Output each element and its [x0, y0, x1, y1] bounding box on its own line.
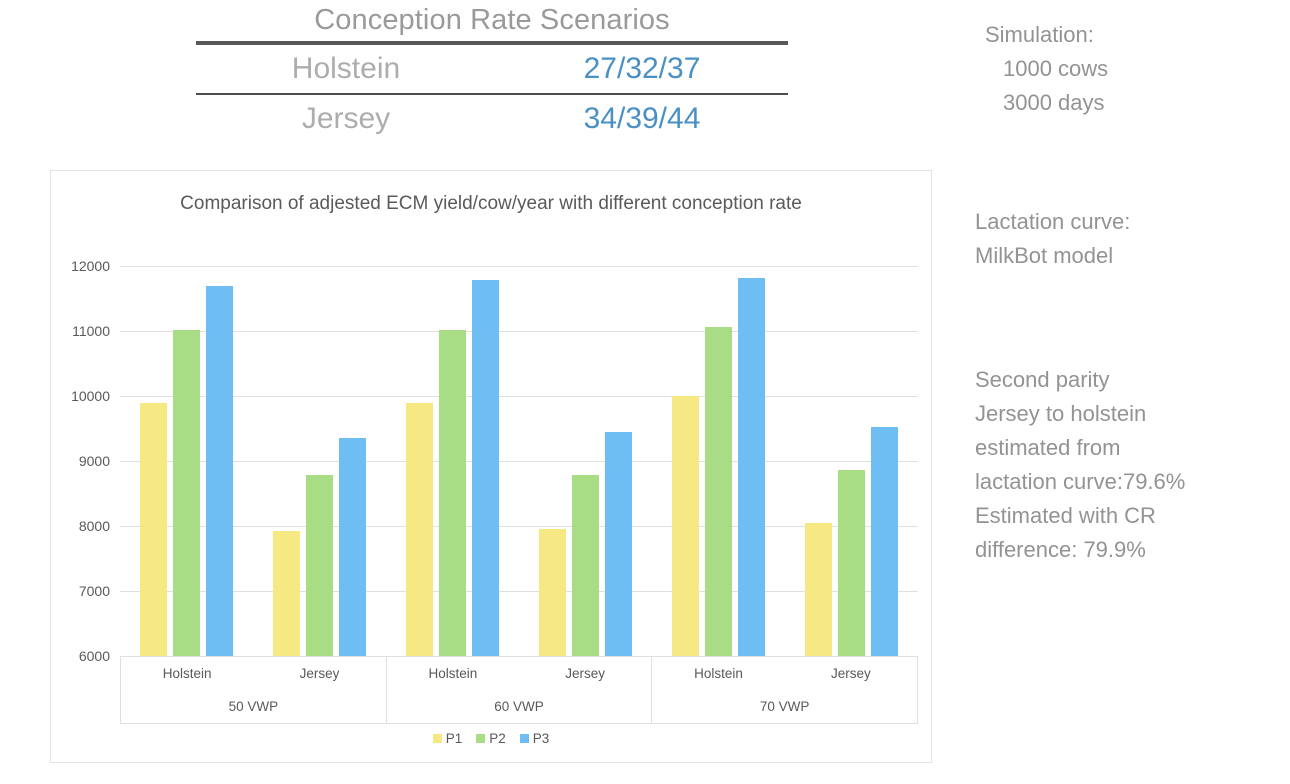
x-axis-breed-labels: HolsteinJerseyHolsteinJerseyHolsteinJers…	[120, 656, 918, 689]
x-axis-group-cell: HolsteinJersey	[120, 657, 386, 689]
simulation-note-cows: 1000 cows	[985, 52, 1108, 86]
bar-p2[interactable]	[705, 327, 732, 656]
legend-label: P2	[489, 731, 506, 746]
legend-label: P1	[446, 731, 463, 746]
chart-title: Comparison of adjested ECM yield/cow/yea…	[51, 191, 931, 217]
parity-note-line-3: estimated from	[975, 431, 1185, 465]
bar-p2[interactable]	[439, 330, 466, 656]
breed-bar-cluster	[253, 266, 386, 656]
x-axis-vwp-label: 60 VWP	[387, 689, 652, 723]
chart-bar-groups	[120, 266, 918, 656]
parity-note-line-4: lactation curve:79.6%	[975, 465, 1185, 499]
bar-p2[interactable]	[173, 330, 200, 656]
parity-note-line-5: Estimated with CR	[975, 499, 1185, 533]
x-axis-breed-label: Jersey	[785, 657, 917, 689]
table-cell-rates: 27/32/37	[496, 54, 788, 84]
table-cell-breed: Holstein	[196, 54, 496, 84]
bar-p2[interactable]	[306, 475, 333, 656]
x-axis-group-cell: HolsteinJersey	[651, 657, 918, 689]
parity-note-line-2: Jersey to holstein	[975, 397, 1185, 431]
x-axis-breed-label: Holstein	[121, 657, 253, 689]
ecm-yield-bar-chart: Comparison of adjested ECM yield/cow/yea…	[50, 170, 932, 763]
conception-rate-table: Conception Rate Scenarios Holstein 27/32…	[196, 2, 788, 143]
bar-p3[interactable]	[738, 278, 765, 656]
legend-swatch-icon	[433, 734, 442, 743]
x-axis-vwp-cell: 50 VWP	[120, 689, 386, 723]
x-axis-breed-label: Holstein	[387, 657, 519, 689]
x-axis-vwp-cell: 60 VWP	[386, 689, 652, 723]
lactation-note-heading: Lactation curve:	[975, 205, 1130, 239]
y-axis-tick-label: 9000	[79, 453, 110, 469]
legend-swatch-icon	[476, 734, 485, 743]
bar-p3[interactable]	[871, 427, 898, 656]
y-axis-tick-label: 8000	[79, 518, 110, 534]
breed-bar-cluster	[519, 266, 652, 656]
lactation-note: Lactation curve: MilkBot model	[975, 205, 1130, 273]
x-axis-vwp-labels: 50 VWP60 VWP70 VWP	[120, 689, 918, 723]
breed-bar-cluster	[652, 266, 785, 656]
table-row: Jersey 34/39/44	[196, 95, 788, 143]
breed-bar-cluster	[785, 266, 918, 656]
bar-p2[interactable]	[572, 475, 599, 656]
legend-label: P3	[533, 731, 550, 746]
bar-p1[interactable]	[273, 531, 300, 656]
x-axis-vwp-label: 70 VWP	[652, 689, 917, 723]
vwp-group	[120, 266, 386, 656]
table-cell-rates: 34/39/44	[496, 104, 788, 134]
table-row: Holstein 27/32/37	[196, 45, 788, 93]
x-axis-breed-label: Jersey	[253, 657, 385, 689]
legend-item[interactable]: P3	[520, 731, 550, 746]
y-axis-tick-label: 6000	[79, 648, 110, 664]
legend-item[interactable]: P2	[476, 731, 506, 746]
parity-note: Second parity Jersey to holstein estimat…	[975, 363, 1185, 567]
bar-p3[interactable]	[339, 438, 366, 656]
breed-bar-cluster	[386, 266, 519, 656]
y-axis-tick-label: 12000	[71, 258, 110, 274]
bar-p1[interactable]	[140, 403, 167, 656]
x-axis-breed-label: Jersey	[519, 657, 651, 689]
x-axis-group-cell: HolsteinJersey	[386, 657, 652, 689]
bar-p1[interactable]	[539, 529, 566, 656]
bar-p2[interactable]	[838, 470, 865, 656]
simulation-note-days: 3000 days	[985, 86, 1108, 120]
bar-p3[interactable]	[206, 286, 233, 656]
bar-p1[interactable]	[406, 403, 433, 657]
parity-note-line-1: Second parity	[975, 363, 1185, 397]
y-axis-tick-label: 10000	[71, 388, 110, 404]
y-axis-tick-label: 11000	[72, 323, 110, 339]
breed-bar-cluster	[120, 266, 253, 656]
legend-item[interactable]: P1	[433, 731, 463, 746]
bar-p1[interactable]	[805, 523, 832, 656]
x-axis-vwp-label: 50 VWP	[121, 689, 386, 723]
vwp-group	[386, 266, 652, 656]
x-axis-breed-label: Holstein	[652, 657, 784, 689]
slide-canvas: Conception Rate Scenarios Holstein 27/32…	[0, 0, 1290, 784]
bar-p1[interactable]	[672, 396, 699, 656]
bar-p3[interactable]	[605, 432, 632, 656]
vwp-group	[652, 266, 918, 656]
simulation-note: Simulation: 1000 cows 3000 days	[985, 18, 1108, 120]
bar-p3[interactable]	[472, 280, 499, 656]
simulation-note-heading: Simulation:	[985, 18, 1108, 52]
chart-plot-area: 1200011000100009000800070006000	[120, 266, 918, 656]
legend-swatch-icon	[520, 734, 529, 743]
lactation-note-model: MilkBot model	[975, 239, 1130, 273]
table-cell-breed: Jersey	[196, 104, 496, 134]
chart-legend: P1P2P3	[51, 731, 931, 746]
x-axis-vwp-cell: 70 VWP	[651, 689, 918, 723]
conception-rate-table-title: Conception Rate Scenarios	[196, 2, 788, 41]
y-axis-tick-label: 7000	[79, 583, 110, 599]
x-axis-bottom-rule	[120, 723, 918, 724]
parity-note-line-6: difference: 79.9%	[975, 533, 1185, 567]
